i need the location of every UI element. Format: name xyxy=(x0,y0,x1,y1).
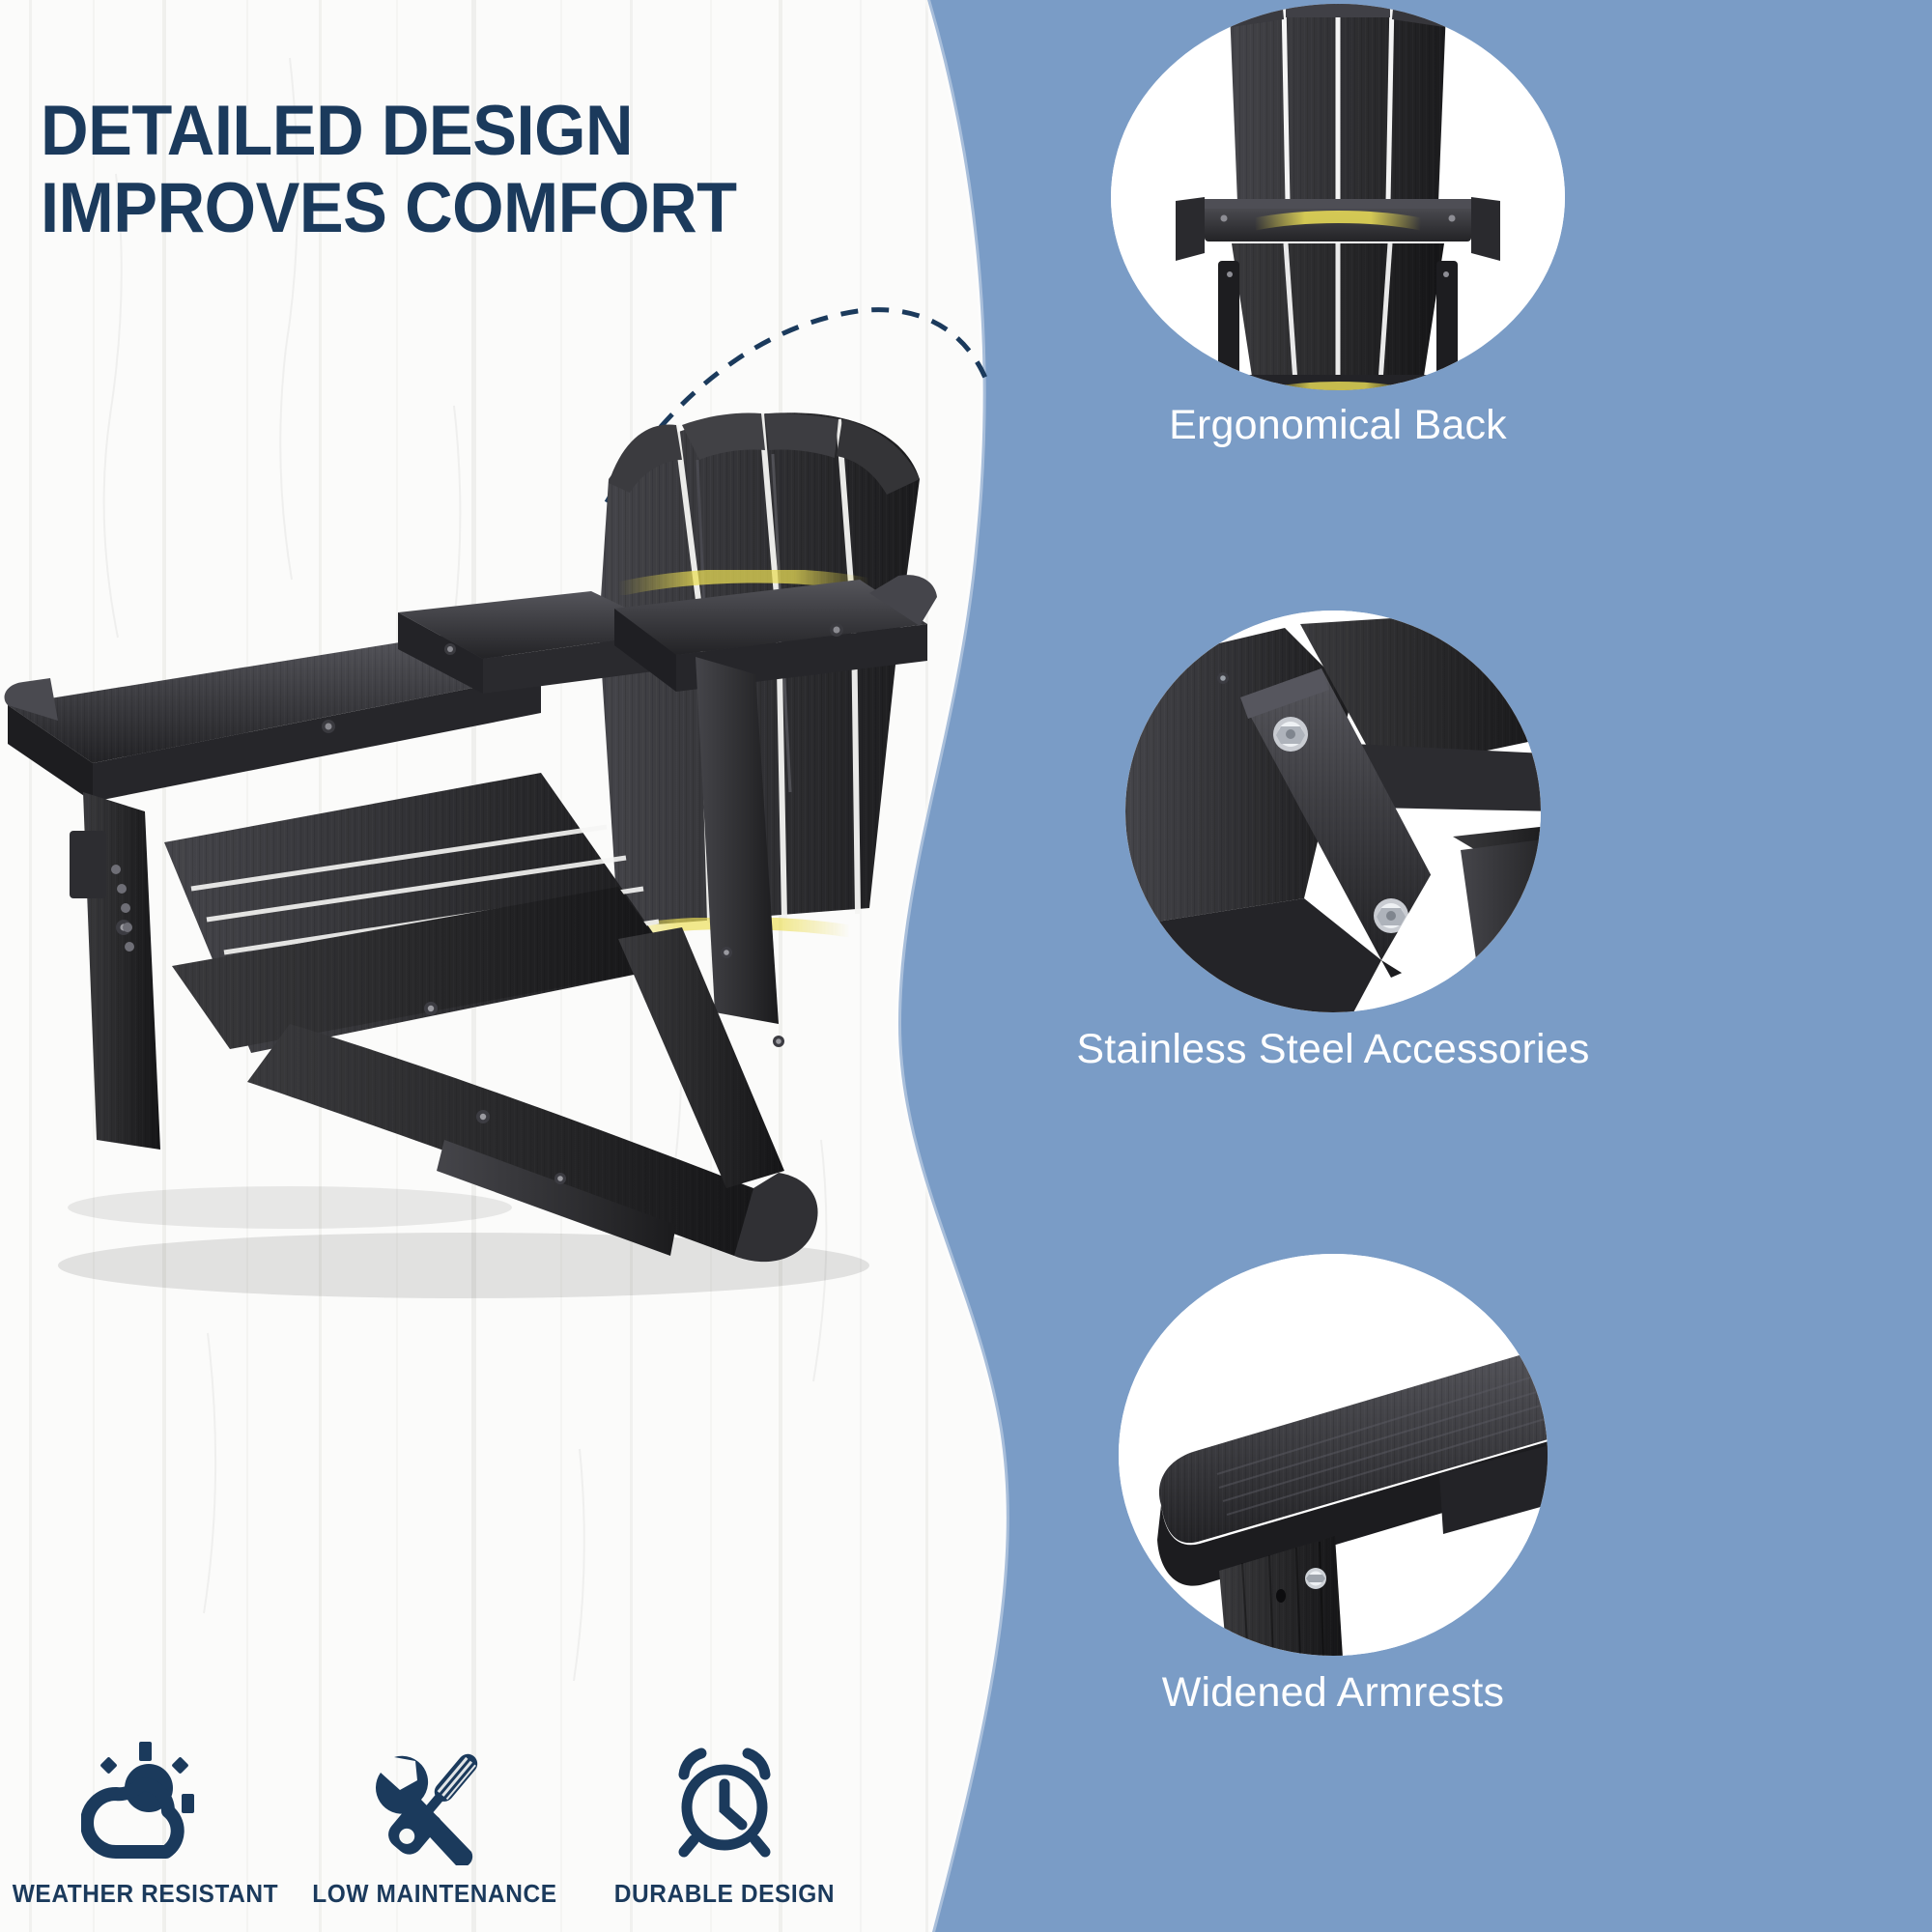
page-title: DETAILED DESIGN IMPROVES COMFORT xyxy=(41,93,858,248)
chair-seat xyxy=(164,773,676,1053)
callout-label: Widened Armrests xyxy=(1162,1669,1505,1717)
sun-cloud-icon xyxy=(81,1730,209,1865)
callout-oval xyxy=(1053,1252,1613,1662)
feature-weather-resistant: WEATHER RESISTANT xyxy=(10,1730,280,1909)
headline-line-2: IMPROVES COMFORT xyxy=(41,170,858,247)
infographic-canvas: DETAILED DESIGN IMPROVES COMFORT xyxy=(0,0,1932,1932)
headline-line-1: DETAILED DESIGN xyxy=(41,92,633,170)
callout-widened-armrests: Widened Armrests xyxy=(1053,1252,1613,1662)
callout-stainless-steel-accessories: Stainless Steel Accessories xyxy=(1063,609,1604,1019)
callout-oval xyxy=(1038,4,1637,395)
callout-oval xyxy=(1063,609,1604,1019)
stainless-screw xyxy=(1305,1568,1326,1589)
feature-label: WEATHER RESISTANT xyxy=(12,1881,277,1909)
feature-label: DURABLE DESIGN xyxy=(614,1881,835,1909)
callout-label: Stainless Steel Accessories xyxy=(1076,1026,1589,1073)
alarm-clock-icon xyxy=(661,1730,788,1865)
callout-label: Ergonomical Back xyxy=(1169,402,1507,449)
callout-ergonomical-back: Ergonomical Back xyxy=(1038,4,1637,395)
feature-icons-row: WEATHER RESISTANT xyxy=(10,1730,860,1909)
stainless-bolt xyxy=(1273,717,1308,752)
feature-durable-design: DURABLE DESIGN xyxy=(589,1730,860,1909)
feature-low-maintenance: LOW MAINTENANCE xyxy=(299,1730,570,1909)
product-image-adirondack-chair xyxy=(0,290,976,1314)
wrench-screwdriver-icon xyxy=(371,1730,498,1865)
feature-label: LOW MAINTENANCE xyxy=(312,1881,556,1909)
